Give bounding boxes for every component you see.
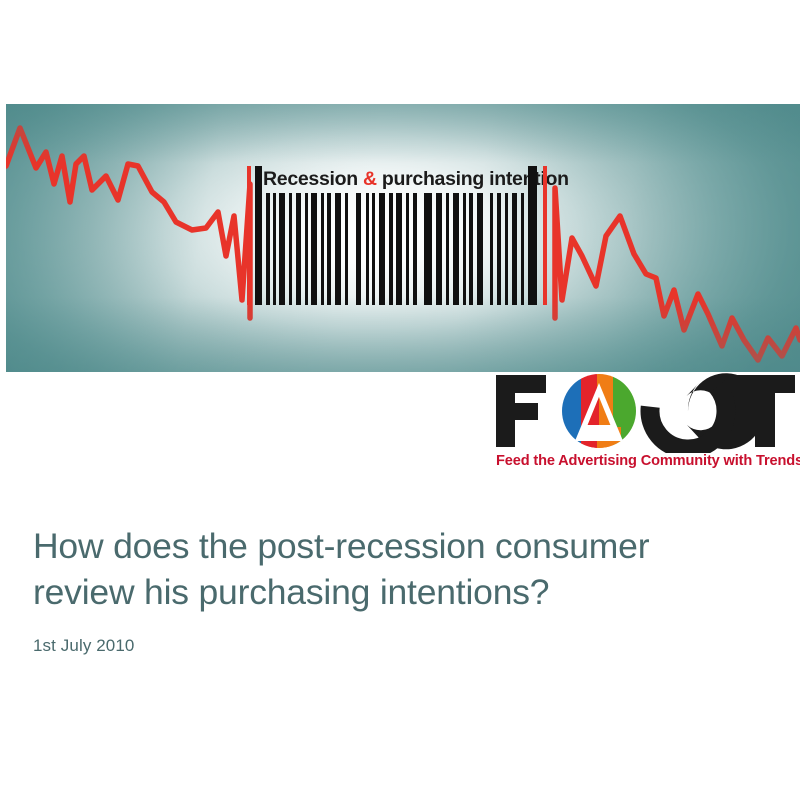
barcode-bar <box>379 193 385 305</box>
fact-logo-tagline: Feed the Advertising Community with Tren… <box>496 453 796 469</box>
barcode-bar <box>372 193 375 305</box>
barcode-bar <box>273 193 276 305</box>
barcode-label-part-1: Recession <box>263 168 363 190</box>
barcode-bar <box>413 193 417 305</box>
barcode-bar <box>305 193 308 305</box>
barcode-bar <box>255 166 262 305</box>
barcode-bar <box>505 193 508 305</box>
barcode-bar <box>490 193 493 305</box>
barcode-bar <box>321 193 324 305</box>
presentation-date: 1st July 2010 <box>33 635 763 657</box>
barcode-bar <box>266 193 270 305</box>
barcode-bar <box>327 193 331 305</box>
barcode-bar <box>446 193 449 305</box>
barcode-bar <box>453 193 459 305</box>
barcode-bar <box>521 193 524 305</box>
barcode-bar <box>366 193 369 305</box>
slide-root: Recession & purchasing intention <box>0 0 800 800</box>
barcode-bar <box>345 193 348 305</box>
barcode-bar <box>356 193 361 305</box>
barcode-bar <box>311 193 317 305</box>
barcode-bar <box>406 193 409 305</box>
logo-letter-a <box>562 374 637 448</box>
page-title: How does the post-recession consumer rev… <box>33 523 763 615</box>
barcode-bar <box>512 193 517 305</box>
fact-logo-mark <box>492 369 798 453</box>
barcode-bar <box>436 193 442 305</box>
barcode-bar <box>424 193 432 305</box>
barcode-bar <box>389 193 393 305</box>
barcode-bars <box>247 193 559 305</box>
title-block: How does the post-recession consumer rev… <box>33 523 763 657</box>
barcode-bar <box>469 193 473 305</box>
recession-banner-image: Recession & purchasing intention <box>6 104 800 372</box>
barcode-label: Recession & purchasing intention <box>263 166 551 192</box>
fact-logo: Feed the Advertising Community with Tren… <box>492 369 798 477</box>
barcode-bar-guard-left <box>247 166 251 305</box>
barcode-bar-guard-right <box>543 166 547 305</box>
barcode-bar <box>396 193 402 305</box>
barcode-bar <box>463 193 466 305</box>
barcode-bar <box>335 193 341 305</box>
barcode-label-ampersand: & <box>363 168 377 190</box>
barcode-bar <box>296 193 301 305</box>
barcode-bar <box>528 166 537 305</box>
barcode-bar <box>289 193 292 305</box>
barcode-bar <box>497 193 501 305</box>
barcode-bar <box>279 193 285 305</box>
barcode-label-part-2: purchasing intention <box>377 168 569 190</box>
logo-letter-f <box>496 375 546 447</box>
barcode-graphic: Recession & purchasing intention <box>247 166 559 305</box>
barcode-bar <box>477 193 483 305</box>
